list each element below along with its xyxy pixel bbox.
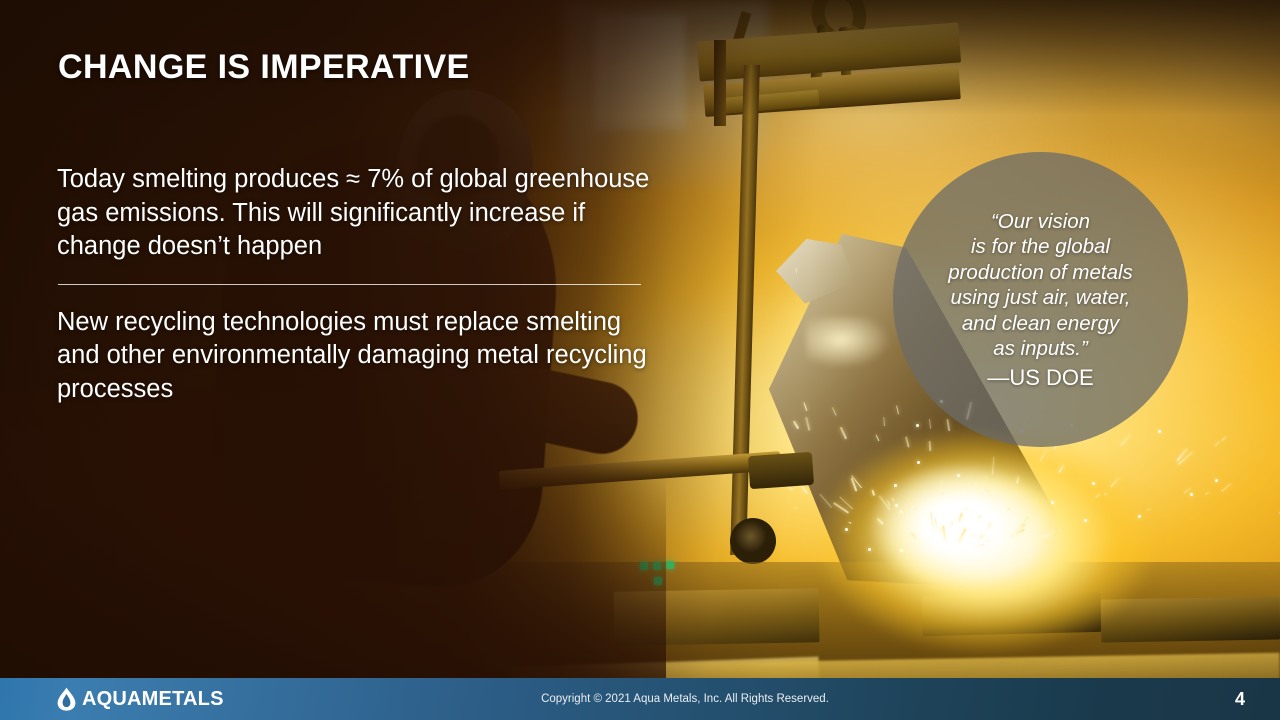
paragraph-one: Today smelting produces ≈ 7% of global g…	[57, 163, 657, 264]
slide: CHANGE IS IMPERATIVE Today smelting prod…	[0, 0, 1280, 720]
body-text-block: Today smelting produces ≈ 7% of global g…	[57, 163, 657, 406]
slide-footer: AQUAMETALS Copyright © 2021 Aqua Metals,…	[0, 678, 1280, 720]
paragraph-two: New recycling technologies must replace …	[57, 306, 657, 407]
copyright-notice: Copyright © 2021 Aqua Metals, Inc. All R…	[0, 693, 1280, 705]
quote-text: “Our vision is for the global production…	[948, 209, 1133, 362]
section-divider	[58, 284, 641, 285]
page-number: 4	[1235, 689, 1245, 710]
quote-callout-circle: “Our vision is for the global production…	[893, 152, 1188, 447]
quote-attribution: —US DOE	[987, 364, 1093, 391]
page-title: CHANGE IS IMPERATIVE	[58, 48, 470, 87]
